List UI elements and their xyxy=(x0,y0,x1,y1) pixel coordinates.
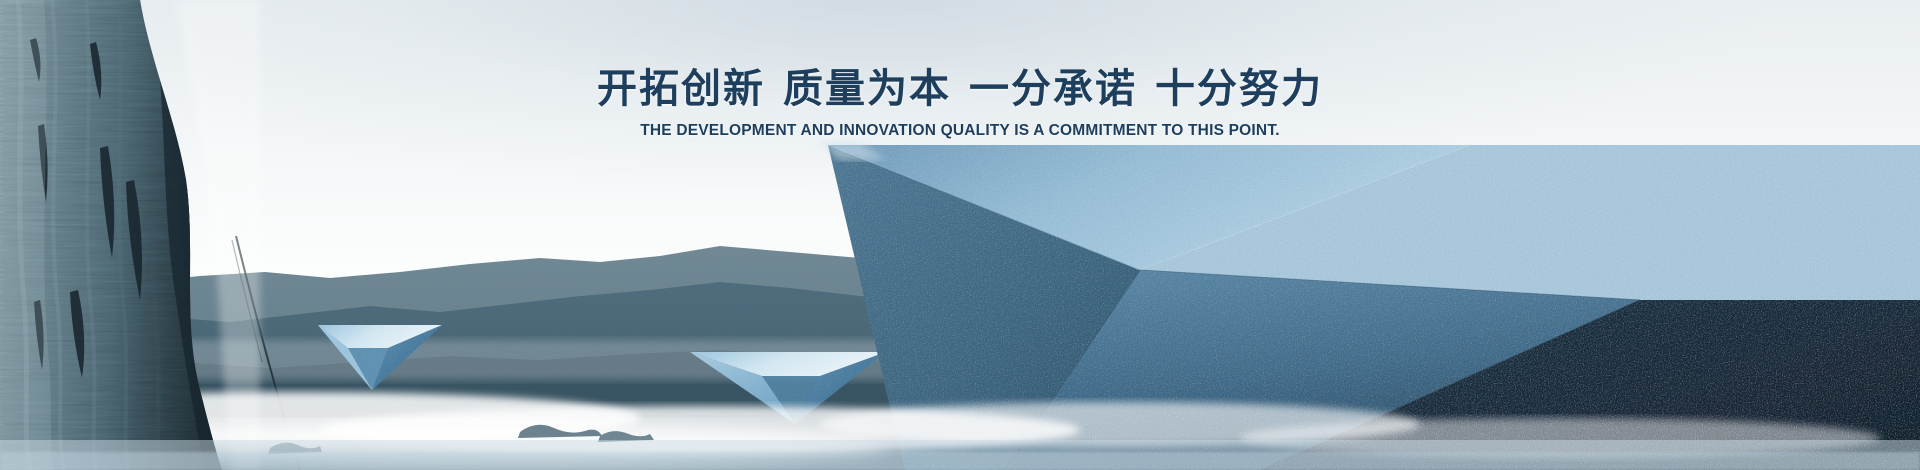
banner-text-block: 开拓创新质量为本一分承诺十分努力 THE DEVELOPMENT AND INN… xyxy=(0,66,1920,140)
headline-segment-4: 十分努力 xyxy=(1155,66,1323,112)
headline-segment-2: 质量为本 xyxy=(783,66,951,112)
headline-segment-1: 开拓创新 xyxy=(597,66,765,112)
water-band-soft xyxy=(0,452,1920,470)
banner-headline: 开拓创新质量为本一分承诺十分努力 xyxy=(0,66,1920,112)
banner-subtitle: THE DEVELOPMENT AND INNOVATION QUALITY I… xyxy=(0,122,1920,140)
headline-segment-3: 一分承诺 xyxy=(969,66,1137,112)
hero-banner: 开拓创新质量为本一分承诺十分努力 THE DEVELOPMENT AND INN… xyxy=(0,0,1920,470)
